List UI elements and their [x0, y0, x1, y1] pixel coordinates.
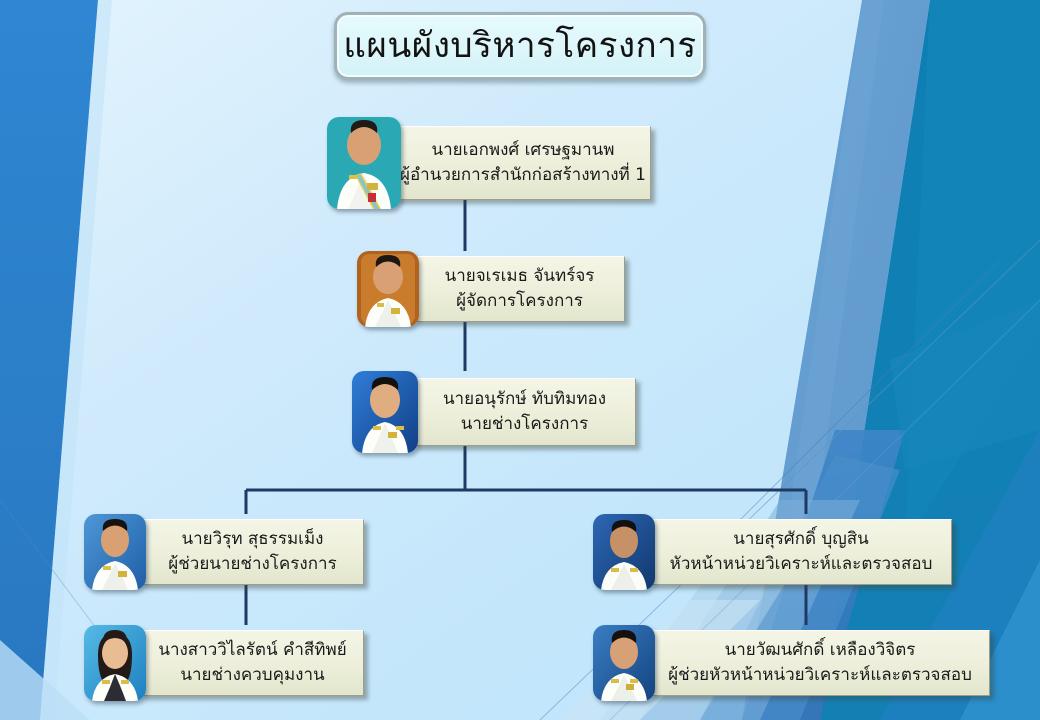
portrait-director-photo [327, 117, 401, 209]
org-node-supervisor[interactable]: นางสาววิไลรัตน์ คำสีทิพย์ นายช่างควบคุมง… [84, 625, 364, 701]
portrait-supervisor-photo [84, 625, 146, 701]
analysis-assistant-position: ผู้ช่วยหัวหน้าหน่วยวิเคราะห์และตรวจสอบ [668, 663, 972, 688]
analysis-assistant-name: นายวัฒนศักดิ์ เหลืองวิจิตร [725, 638, 916, 663]
assistant-label-box: นายวิรุท สุธรรมเม็ง ผู้ช่วยนายช่างโครงกา… [141, 519, 364, 585]
engineer-name: นายอนุรักษ์ ทับทิมทอง [443, 387, 606, 412]
manager-name: นายจเรเมธ จันทร์จร [445, 264, 595, 289]
portrait-engineer-photo [352, 371, 418, 453]
connector-lines [0, 0, 1040, 720]
analysis-assistant-label-box: นายวัฒนศักดิ์ เหลืองวิจิตร ผู้ช่วยหัวหน้… [650, 630, 990, 696]
engineer-position: นายช่างโครงการ [461, 412, 588, 437]
manager-label-box: นายจเรเมธ จันทร์จร ผู้จัดการโครงการ [414, 256, 625, 322]
assistant-position: ผู้ช่วยนายช่างโครงการ [168, 552, 336, 577]
portrait-analysis-head-photo [593, 514, 655, 590]
portrait-assistant-photo [84, 514, 146, 590]
chart-title-box: แผนผังบริหารโครงการ [334, 12, 706, 80]
engineer-label-box: นายอนุรักษ์ ทับทิมทอง นายช่างโครงการ [413, 378, 636, 446]
director-position: ผู้อำนวยการสำนักก่อสร้างทางที่ 1 [400, 163, 646, 188]
portrait-manager-photo [357, 251, 419, 327]
supervisor-position: นายช่างควบคุมงาน [180, 663, 324, 688]
org-node-assistant[interactable]: นายวิรุท สุธรรมเม็ง ผู้ช่วยนายช่างโครงกา… [84, 514, 364, 590]
org-node-analysis-assistant[interactable]: นายวัฒนศักดิ์ เหลืองวิจิตร ผู้ช่วยหัวหน้… [593, 625, 990, 701]
analysis-head-position: หัวหน้าหน่วยวิเคราะห์และตรวจสอบ [670, 552, 933, 577]
background-decoration [0, 0, 1040, 720]
org-node-manager[interactable]: นายจเรเมธ จันทร์จร ผู้จัดการโครงการ [357, 251, 625, 327]
supervisor-label-box: นางสาววิไลรัตน์ คำสีทิพย์ นายช่างควบคุมง… [141, 630, 364, 696]
analysis-head-label-box: นายสุรศักดิ์ บุญสิน หัวหน้าหน่วยวิเคราะห… [650, 519, 952, 585]
page-title: แผนผังบริหารโครงการ [343, 29, 696, 64]
org-node-engineer[interactable]: นายอนุรักษ์ ทับทิมทอง นายช่างโครงการ [352, 371, 636, 453]
org-node-director[interactable]: นายเอกพงศ์ เศรษฐมานพ ผู้อำนวยการสำนักก่อ… [327, 117, 651, 209]
manager-position: ผู้จัดการโครงการ [456, 289, 583, 314]
director-label-box: นายเอกพงศ์ เศรษฐมานพ ผู้อำนวยการสำนักก่อ… [395, 126, 651, 200]
portrait-analysis-assistant-photo [593, 625, 655, 701]
assistant-name: นายวิรุท สุธรรมเม็ง [182, 527, 324, 552]
director-name: นายเอกพงศ์ เศรษฐมานพ [431, 138, 614, 163]
slide-canvas: แผนผังบริหารโครงการ [0, 0, 1040, 720]
supervisor-name: นางสาววิไลรัตน์ คำสีทิพย์ [158, 638, 346, 663]
org-node-analysis-head[interactable]: นายสุรศักดิ์ บุญสิน หัวหน้าหน่วยวิเคราะห… [593, 514, 952, 590]
analysis-head-name: นายสุรศักดิ์ บุญสิน [733, 527, 868, 552]
